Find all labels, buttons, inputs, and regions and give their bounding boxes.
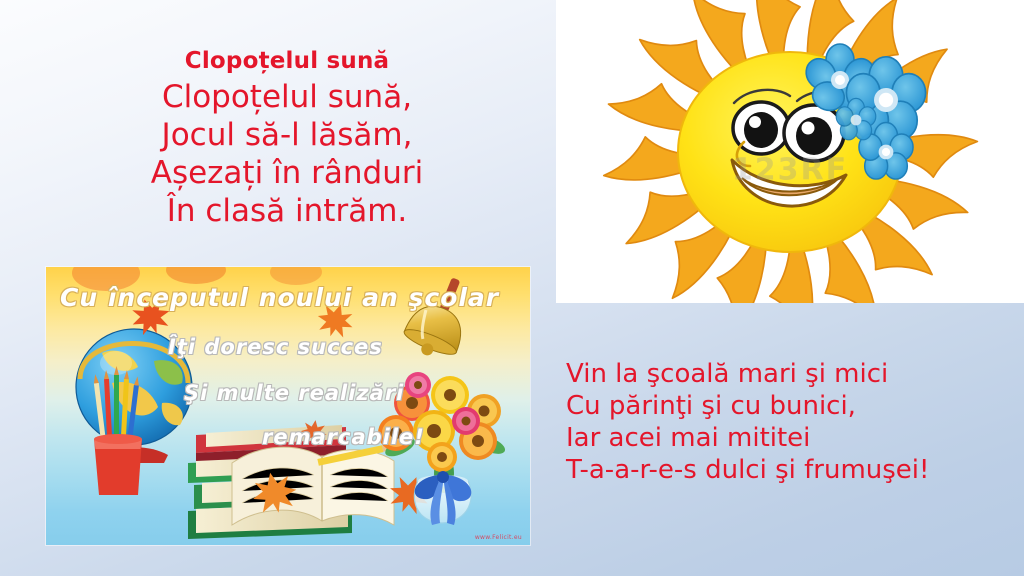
school-greeting-image: Cu începutul noului an şcolar Îţi doresc…: [46, 267, 530, 545]
poem-title: Clopoțelul sună: [52, 46, 522, 76]
poem-top-line-1: Clopoțelul sună,: [52, 78, 522, 116]
photo-caption-line-4: remarcabile!: [262, 425, 425, 449]
photo-caption-line-2: Îţi doresc succes: [168, 335, 383, 359]
poem-bottom-block: Vin la şcoală mari şi mici Cu părinţi şi…: [566, 358, 1006, 486]
photo-caption-line-1: Cu începutul noului an şcolar: [60, 283, 499, 312]
poem-top-block: Clopoțelul sună Clopoțelul sună, Jocul s…: [52, 46, 522, 230]
poem-bottom-line-4: T-a-a-r-e-s dulci şi frumuşei!: [566, 454, 1006, 486]
poem-top-line-2: Jocul să-l lăsăm,: [52, 116, 522, 154]
poem-top-line-3: Așezați în rânduri: [52, 154, 522, 192]
poem-top-line-4: În clasă intrăm.: [52, 192, 522, 230]
slide-canvas: Clopoțelul sună Clopoțelul sună, Jocul s…: [0, 0, 1024, 576]
poem-bottom-line-3: Iar acei mai mititei: [566, 422, 1006, 454]
sun-illustration: [556, 0, 1024, 303]
photo-caption-line-3: Şi multe realizări: [184, 381, 404, 405]
sun-image: 123RF: [556, 0, 1024, 303]
poem-bottom-line-2: Cu părinţi şi cu bunici,: [566, 390, 1006, 422]
poem-bottom-line-1: Vin la şcoală mari şi mici: [566, 358, 1006, 390]
photo-credit-text: www.Felicit.eu: [475, 534, 522, 541]
